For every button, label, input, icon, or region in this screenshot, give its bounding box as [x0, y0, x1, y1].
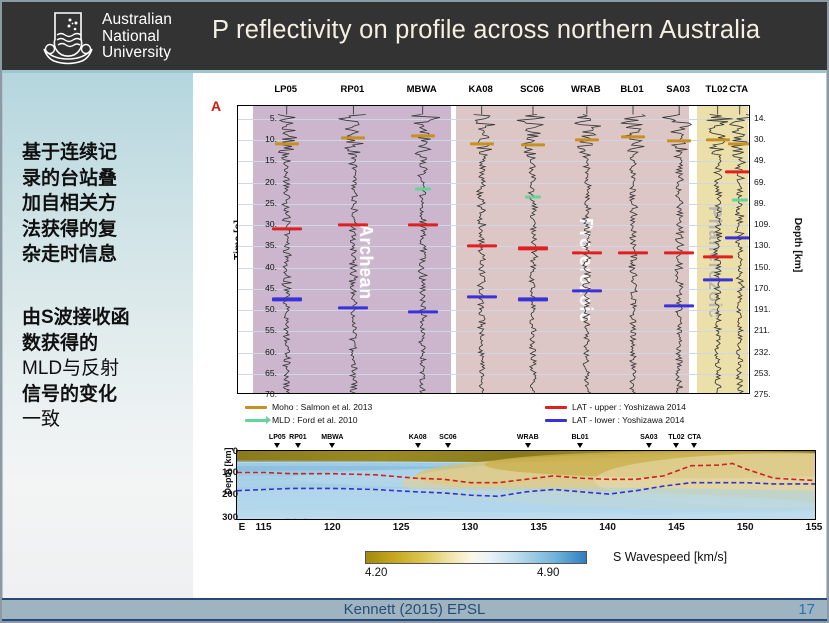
marker-lat-lower: [725, 236, 750, 239]
cross-section-station-sc06: SC06: [439, 434, 457, 441]
legend-swatch: [545, 419, 567, 422]
time-tick-label: 20.: [237, 177, 277, 187]
station-label-sc06: SC06: [520, 84, 544, 95]
marker-lat-lower: [664, 304, 694, 307]
sidebar-text-line: 信号的变化: [22, 382, 182, 408]
station-label-bl01: BL01: [620, 84, 643, 95]
colorbar-min-label: 4.20: [365, 567, 387, 579]
cross-section-station-cta: CTA: [687, 434, 701, 441]
depth-tick-label: 232.: [754, 347, 794, 357]
cross-section-lon-tick: 135: [530, 522, 547, 533]
cross-section-depth-tick: 0: [204, 446, 238, 457]
seismic-trace: [707, 115, 733, 395]
seismic-trace: [662, 115, 691, 395]
marker-moho: [621, 135, 645, 138]
colorbar-gradient: [365, 551, 587, 564]
cross-section-lon-tick: 145: [668, 522, 685, 533]
marker-lat-upper: [408, 223, 438, 226]
time-tick-label: 50.: [237, 304, 277, 314]
marker-moho: [341, 136, 365, 139]
depth-tick-label: 89.: [754, 198, 794, 208]
time-tick-label: 25.: [237, 198, 277, 208]
marker-moho: [275, 143, 299, 146]
footer-bottom-bar: [0, 619, 829, 623]
sidebar-text-line: 加自相关方: [22, 191, 182, 217]
marker-lat-lower: [338, 306, 368, 309]
cross-section-lon-tick: 125: [393, 522, 410, 533]
depth-tick-label: 150.: [754, 262, 794, 272]
time-tick-label: 35.: [237, 240, 277, 250]
reflectivity-figure: A Time [s] Depth [km] ArcheanProterozoic…: [200, 84, 820, 429]
sidebar-text-line: 数获得的: [22, 331, 182, 357]
marker-mld: [415, 187, 431, 190]
cross-section-station-mbwa: MBWA: [321, 434, 343, 441]
sidebar-paragraph-2: 由S波接收函数获得的MLD与反射信号的变化一致: [22, 305, 182, 433]
station-label-tl02: TL02: [706, 84, 728, 95]
seismic-trace: [575, 115, 601, 395]
station-label-lp05: LP05: [274, 84, 297, 95]
cross-section-depth-tick: 300: [204, 512, 238, 523]
station-label-ka08: KA08: [469, 84, 493, 95]
depth-tick-label: 109.: [754, 219, 794, 229]
seismic-trace: [278, 115, 297, 395]
marker-lat-upper: [664, 251, 694, 254]
marker-lat-upper: [725, 170, 750, 173]
sidebar-text-line: 一致: [22, 407, 182, 433]
marker-lat-upper: [703, 255, 733, 258]
station-marker-icon: [673, 443, 679, 448]
marker-moho: [706, 138, 730, 141]
seismic-trace: [474, 115, 495, 395]
cross-section-station-bl01: BL01: [571, 434, 588, 441]
reflectivity-plot-area: ArcheanProterozoicPhanerozoic: [237, 105, 750, 394]
depth-tick-label: 130.: [754, 240, 794, 250]
depth-tick-label: 253.: [754, 368, 794, 378]
cross-section-plot-area: 20 S: [236, 450, 816, 520]
time-tick-label: 45.: [237, 283, 277, 293]
time-tick-label: 60.: [237, 347, 277, 357]
panel-a-label: A: [211, 98, 221, 114]
station-marker-icon: [691, 443, 697, 448]
station-marker-icon: [445, 443, 451, 448]
station-marker-icon: [329, 443, 335, 448]
cross-section-lon-tick: 140: [599, 522, 616, 533]
cross-section-lon-tick: 120: [324, 522, 341, 533]
depth-tick-label: 191.: [754, 304, 794, 314]
station-label-mbwa: MBWA: [407, 84, 437, 95]
station-marker-icon: [646, 443, 652, 448]
station-marker-icon: [274, 443, 280, 448]
legend-label: LAT - upper : Yoshizawa 2014: [572, 402, 686, 412]
marker-lat-lower: [408, 311, 438, 314]
sidebar-text-line: MLD与反射: [22, 356, 182, 382]
marker-lat-lower: [572, 289, 602, 292]
time-tick-label: 55.: [237, 325, 277, 335]
time-tick-label: 15.: [237, 155, 277, 165]
marker-lat-lower: [703, 279, 733, 282]
footer-citation: Kennett (2015) EPSL: [0, 601, 829, 618]
legend-item-mld: MLD : Ford et al. 2010: [245, 415, 358, 425]
origin-label: E: [239, 522, 246, 533]
legend-swatch: [245, 406, 267, 409]
marker-moho: [575, 138, 599, 141]
cross-section-depth-tick: 100: [204, 467, 238, 478]
footer-divider: [0, 598, 829, 600]
depth-tick-label: 14.: [754, 113, 794, 123]
station-marker-icon: [415, 443, 421, 448]
marker-moho: [667, 139, 691, 142]
seismic-trace: [730, 115, 750, 395]
marker-lat-lower: [467, 296, 497, 299]
legend-item-lat-upper: LAT - upper : Yoshizawa 2014: [545, 402, 686, 412]
depth-tick-label: 69.: [754, 177, 794, 187]
anu-crest-icon: [42, 9, 94, 65]
page-number: 17: [798, 601, 815, 618]
colorbar-group: 4.20 4.90 S Wavespeed [km/s]: [365, 551, 785, 593]
slide-root: Australian National University P reflect…: [0, 0, 829, 623]
marker-lat-lower: [518, 298, 548, 301]
anu-logo: Australian National University: [42, 6, 200, 68]
seismic-trace: [412, 115, 440, 395]
cross-section-lon-tick: 155: [806, 522, 823, 533]
seismic-trace: [621, 115, 645, 395]
sidebar-text-line: 杂走时信息: [22, 242, 182, 268]
station-label-rp01: RP01: [341, 84, 365, 95]
legend-label: Moho : Salmon et al. 2013: [272, 402, 372, 412]
marker-lat-lower: [272, 298, 302, 301]
sidebar-text-line: 录的台站叠: [22, 166, 182, 192]
time-tick-label: 40.: [237, 262, 277, 272]
time-tick-label: 30.: [237, 219, 277, 229]
colorbar-max-label: 4.90: [537, 567, 559, 579]
time-tick-label: 5.: [237, 113, 277, 123]
depth-tick-label: 211.: [754, 325, 794, 335]
cross-section-station-rp01: RP01: [289, 434, 307, 441]
depth-tick-label: 275.: [754, 389, 794, 399]
marker-moho: [521, 144, 545, 147]
logo-line-2: National: [102, 29, 172, 46]
marker-lat-upper: [572, 251, 602, 254]
legend-label: LAT - lower : Yoshizawa 2014: [572, 415, 684, 425]
station-label-cta: CTA: [729, 84, 748, 95]
cross-section-lon-tick: 130: [462, 522, 479, 533]
marker-moho: [470, 143, 494, 146]
depth-tick-label: 49.: [754, 155, 794, 165]
marker-moho: [411, 134, 435, 137]
anu-logo-text: Australian National University: [102, 12, 172, 62]
legend-item-moho: Moho : Salmon et al. 2013: [245, 402, 372, 412]
depth-tick-label: 170.: [754, 283, 794, 293]
cross-section-station-ka08: KA08: [409, 434, 427, 441]
marker-moho: [728, 143, 750, 146]
cross-section-depth-tick: 200: [204, 489, 238, 500]
station-marker-icon: [525, 443, 531, 448]
seismic-trace: [517, 115, 545, 395]
legend-label: MLD : Ford et al. 2010: [272, 415, 358, 425]
cross-section-station-lp05: LP05: [269, 434, 286, 441]
legend-item-lat-lower: LAT - lower : Yoshizawa 2014: [545, 415, 684, 425]
marker-lat-upper: [467, 245, 497, 248]
marker-lat-upper: [618, 251, 648, 254]
station-marker-icon: [295, 443, 301, 448]
marker-lat-upper: [518, 247, 548, 250]
seismic-trace: [339, 115, 366, 395]
logo-line-3: University: [102, 45, 172, 62]
depth-tick-label: 30.: [754, 134, 794, 144]
sidebar-text-line: 由S波接收函: [22, 305, 182, 331]
seismic-traces: [238, 106, 750, 394]
sidebar-paragraph-1: 基于连续记录的台站叠加自相关方法获得的复杂走时信息: [22, 140, 182, 268]
cross-section-station-tl02: TL02: [668, 434, 684, 441]
logo-line-1: Australian: [102, 12, 172, 29]
cross-section-station-sa03: SA03: [640, 434, 658, 441]
marker-lat-upper: [338, 223, 368, 226]
page-title: P reflectivity on profile across norther…: [212, 16, 812, 45]
cross-section-lon-tick: 115: [255, 522, 271, 533]
time-tick-label: 10.: [237, 134, 277, 144]
wavespeed-field: [237, 451, 815, 519]
station-label-sa03: SA03: [666, 84, 690, 95]
cross-section-station-wrab: WRAB: [517, 434, 539, 441]
station-label-wrab: WRAB: [571, 84, 601, 95]
sidebar-text-line: 法获得的复: [22, 217, 182, 243]
marker-mld: [525, 196, 541, 199]
time-tick-label: 70.: [237, 389, 277, 399]
cross-section-figure: Depth [km] 20 S 0100200300E1151201251301…: [200, 432, 820, 542]
station-marker-icon: [577, 443, 583, 448]
legend-swatch: [545, 406, 567, 409]
slide-header: Australian National University P reflect…: [0, 0, 829, 70]
cross-section-lon-tick: 150: [737, 522, 754, 533]
marker-mld: [732, 198, 748, 201]
colorbar-title: S Wavespeed [km/s]: [613, 550, 727, 564]
legend-swatch: [245, 419, 267, 422]
time-tick-label: 65.: [237, 368, 277, 378]
sidebar-text-line: 基于连续记: [22, 140, 182, 166]
